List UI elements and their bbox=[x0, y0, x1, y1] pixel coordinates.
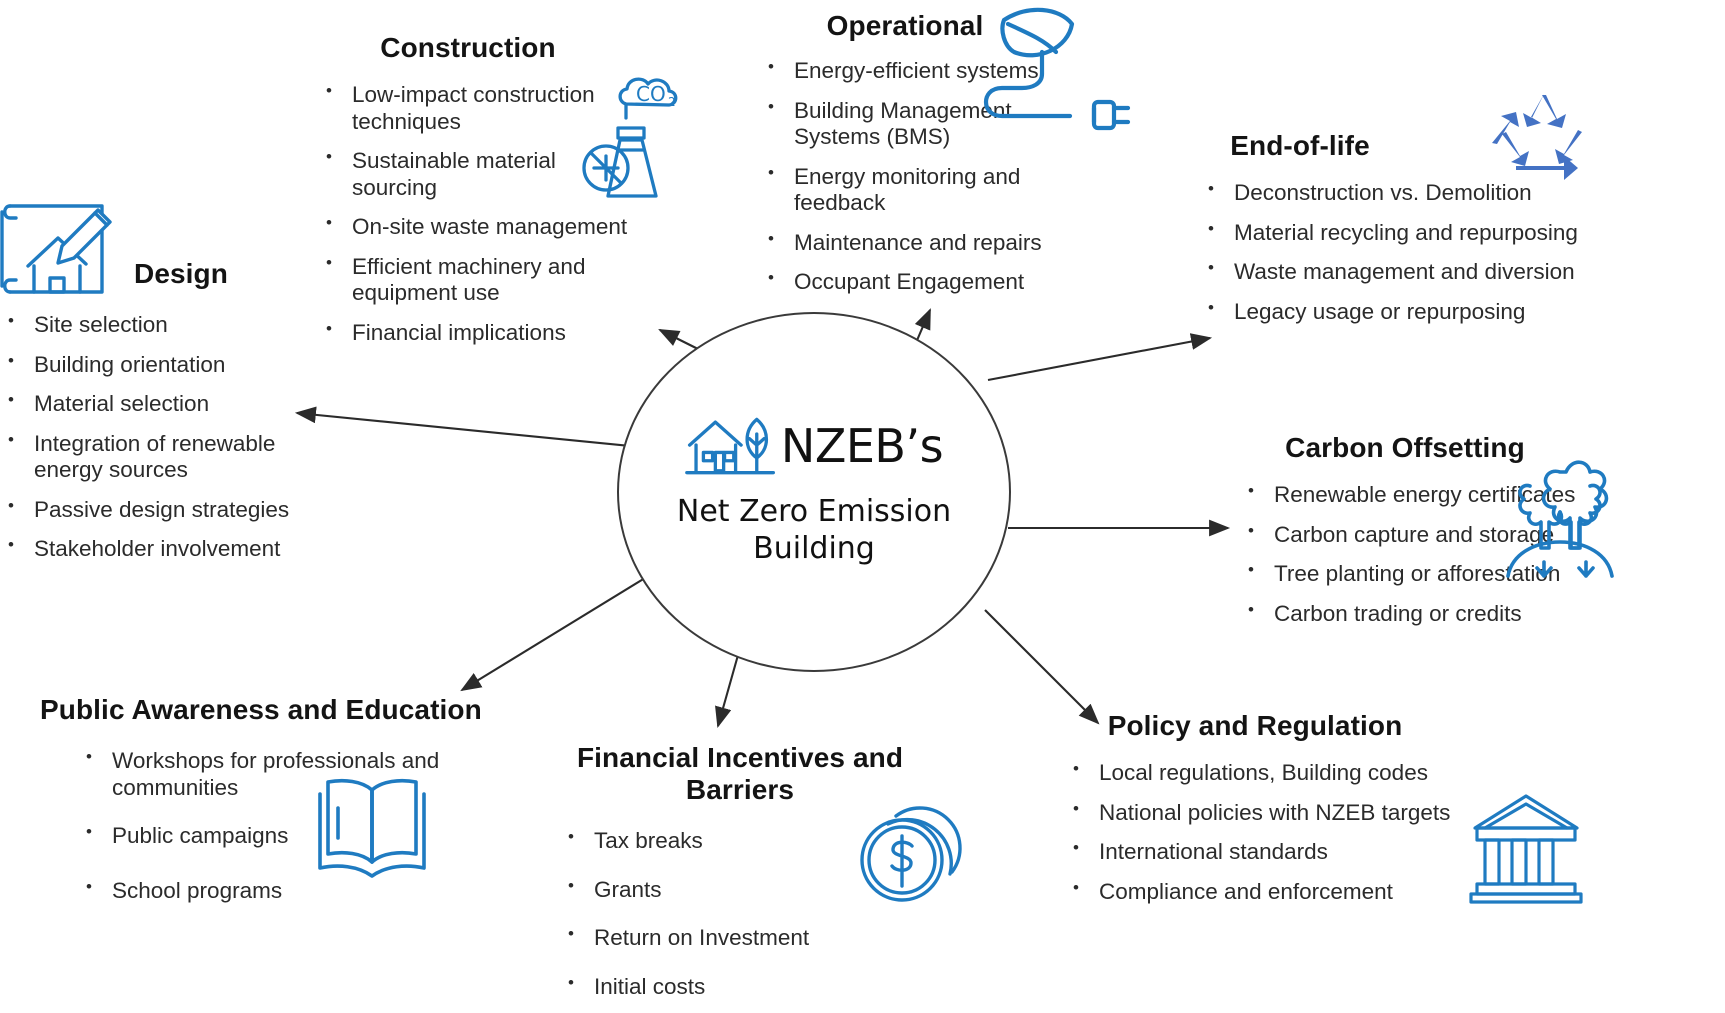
cluster-title-policy-and-regulation: Policy and Regulation bbox=[1065, 710, 1445, 742]
arrow-to-public-awareness bbox=[462, 578, 645, 690]
center-abbreviation: NZEB’s bbox=[781, 419, 943, 473]
list-item: Legacy usage or repurposing bbox=[1200, 299, 1630, 326]
list-item: Maintenance and repairs bbox=[760, 230, 1060, 257]
list-item: Financial implications bbox=[318, 320, 638, 347]
cluster-list-design: Site selection Building orientation Mate… bbox=[0, 312, 330, 563]
center-subtitle-line1: Net Zero Emission bbox=[677, 494, 951, 531]
cluster-end-of-life[interactable]: End-of-life Deconstruction vs. Demolitio… bbox=[1200, 130, 1630, 338]
cluster-carbon-offsetting[interactable]: Carbon Offsetting Renewable energy certi… bbox=[1240, 432, 1660, 640]
list-item: Material recycling and repurposing bbox=[1200, 220, 1630, 247]
cluster-policy-and-regulation[interactable]: Policy and Regulation Local regulations,… bbox=[1065, 710, 1525, 918]
arrow-to-end-of-life bbox=[988, 338, 1210, 380]
cluster-title-public-awareness: Public Awareness and Education bbox=[40, 694, 490, 726]
list-item: Return on Investment bbox=[560, 925, 1000, 952]
list-item: School programs bbox=[78, 878, 458, 905]
list-item: Building orientation bbox=[0, 352, 290, 379]
arrow-to-financial bbox=[718, 648, 740, 726]
cluster-list-end-of-life: Deconstruction vs. Demolition Material r… bbox=[1200, 180, 1630, 325]
diagram-canvas: NZEB’s Net Zero Emission Building bbox=[0, 0, 1725, 986]
list-item: Stakeholder involvement bbox=[0, 536, 290, 563]
center-subtitle-line2: Building bbox=[677, 531, 951, 568]
coins-dollar-icon bbox=[850, 794, 976, 912]
arrow-to-design bbox=[297, 413, 640, 447]
center-node[interactable]: NZEB’s Net Zero Emission Building bbox=[617, 312, 1011, 672]
list-item: International standards bbox=[1065, 839, 1525, 866]
list-item: Compliance and enforcement bbox=[1065, 879, 1525, 906]
open-book-icon bbox=[312, 774, 432, 880]
cluster-design[interactable]: Design Site selection Building orientati… bbox=[0, 190, 330, 576]
bank-building-icon bbox=[1467, 788, 1585, 904]
list-item: Waste management and diversion bbox=[1200, 259, 1630, 286]
list-item: Carbon trading or credits bbox=[1240, 601, 1660, 628]
blueprint-pencil-icon bbox=[0, 190, 128, 306]
cluster-construction[interactable]: Construction Low-impact construction tec… bbox=[318, 32, 718, 359]
svg-text:2: 2 bbox=[668, 95, 676, 109]
cluster-title-design: Design bbox=[134, 258, 228, 306]
house-tree-icon bbox=[685, 410, 777, 482]
factory-co2-blocked-icon: CO 2 bbox=[568, 68, 690, 208]
list-item: Initial costs bbox=[560, 974, 1000, 1001]
list-item: Integration of renewable energy sources bbox=[0, 431, 290, 484]
list-item: Sustainable material sourcing bbox=[318, 148, 582, 201]
cluster-title-end-of-life: End-of-life bbox=[1200, 130, 1400, 162]
cluster-title-construction: Construction bbox=[318, 32, 618, 64]
list-item: On-site waste management bbox=[318, 214, 638, 241]
list-item: Efficient machinery and equipment use bbox=[318, 254, 612, 307]
center-title-row: NZEB’s bbox=[685, 410, 943, 482]
center-subtitle: Net Zero Emission Building bbox=[677, 494, 951, 567]
cluster-operational[interactable]: Operational Energy-efficient systems Bui… bbox=[760, 10, 1120, 309]
list-item: Building Management Systems (BMS) bbox=[760, 98, 1019, 151]
list-item: Energy monitoring and feedback bbox=[760, 164, 1024, 217]
list-item: Material selection bbox=[0, 391, 290, 418]
cluster-public-awareness[interactable]: Public Awareness and Education Workshops… bbox=[40, 694, 500, 917]
list-item: Site selection bbox=[0, 312, 290, 339]
list-item: National policies with NZEB targets bbox=[1065, 800, 1525, 827]
list-item: Local regulations, Building codes bbox=[1065, 760, 1525, 787]
list-item: Occupant Engagement bbox=[760, 269, 1060, 296]
leaf-power-plug-icon bbox=[982, 6, 1142, 136]
arrow-to-policy bbox=[985, 610, 1098, 723]
trees-hill-icon bbox=[1490, 454, 1630, 584]
list-item: Passive design strategies bbox=[0, 497, 290, 524]
svg-text:CO: CO bbox=[636, 82, 666, 106]
cluster-list-policy-and-regulation: Local regulations, Building codes Nation… bbox=[1065, 760, 1525, 905]
recycle-icon bbox=[1490, 88, 1598, 184]
cluster-financial-incentives[interactable]: Financial Incentives and Barriers Tax br… bbox=[520, 742, 1000, 1013]
